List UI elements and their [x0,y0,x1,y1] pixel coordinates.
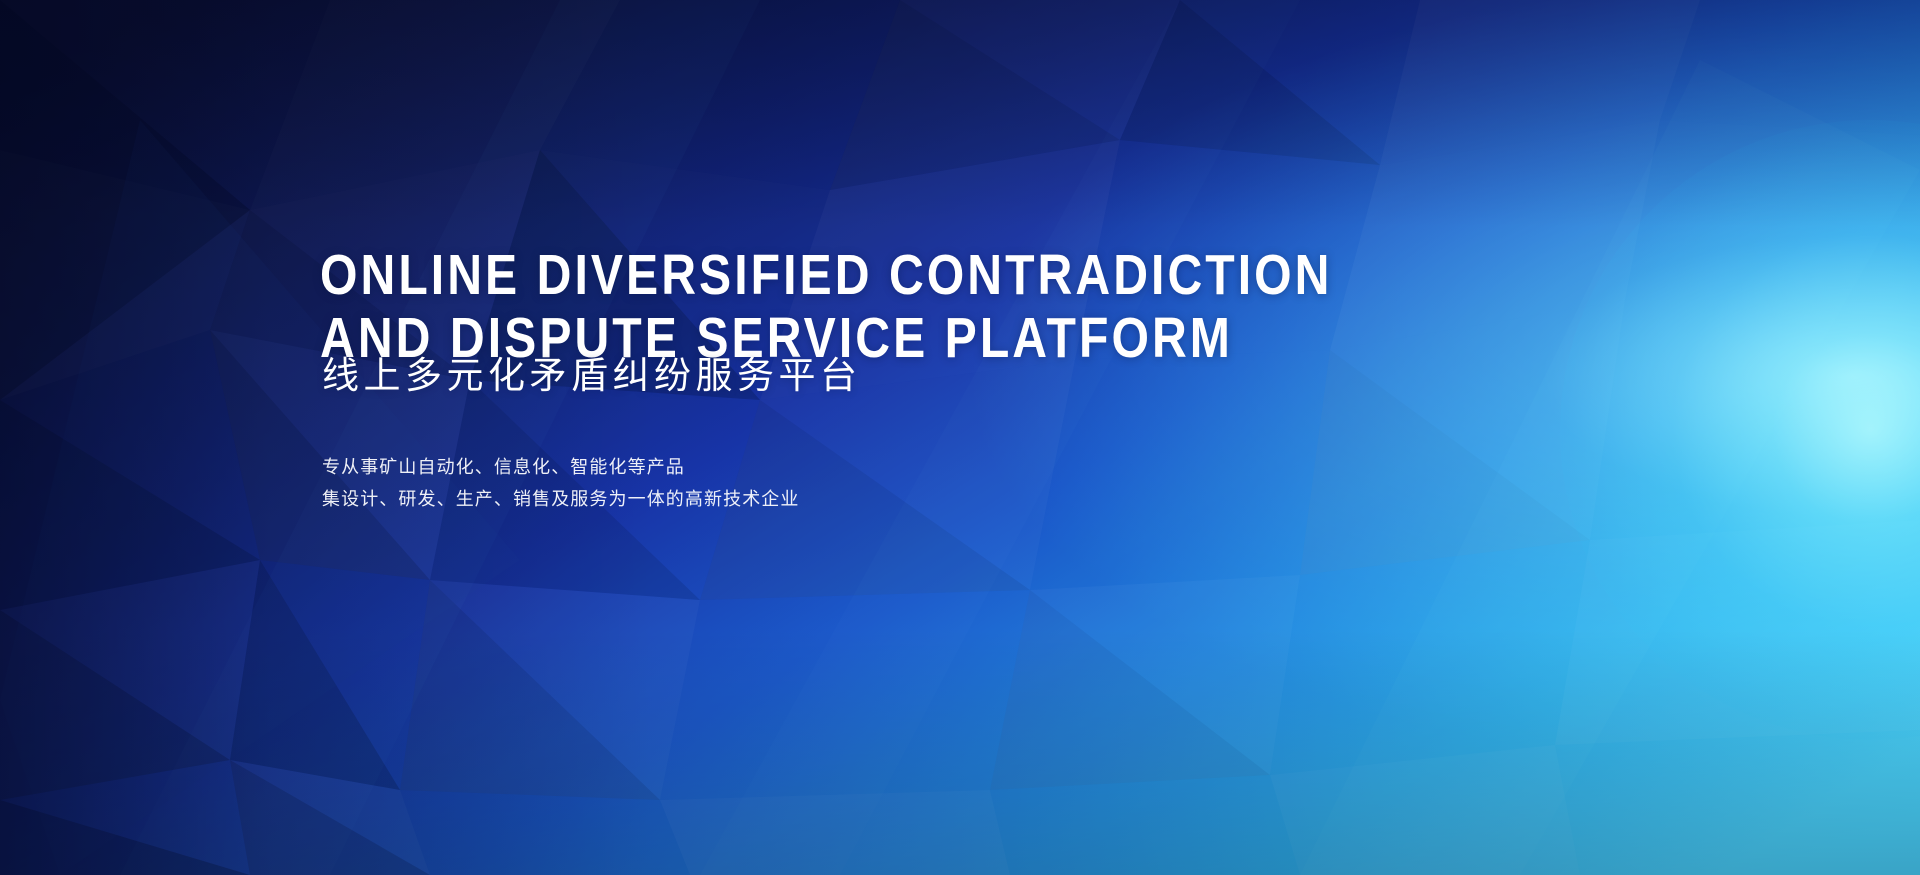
hero-banner: ONLINE DIVERSIFIED CONTRADICTION AND DIS… [0,0,1920,875]
banner-content: ONLINE DIVERSIFIED CONTRADICTION AND DIS… [320,0,1520,875]
banner-headline-en: ONLINE DIVERSIFIED CONTRADICTION AND DIS… [320,244,1333,370]
description-line-1: 专从事矿山自动化、信息化、智能化等产品 [322,451,800,483]
banner-subtitle-zh: 线上多元化矛盾纠纷服务平台 [322,353,862,399]
headline-line-1: ONLINE DIVERSIFIED CONTRADICTION [320,244,1333,307]
banner-description: 专从事矿山自动化、信息化、智能化等产品 集设计、研发、生产、销售及服务为一体的高… [322,451,800,515]
description-line-2: 集设计、研发、生产、销售及服务为一体的高新技术企业 [322,483,800,515]
